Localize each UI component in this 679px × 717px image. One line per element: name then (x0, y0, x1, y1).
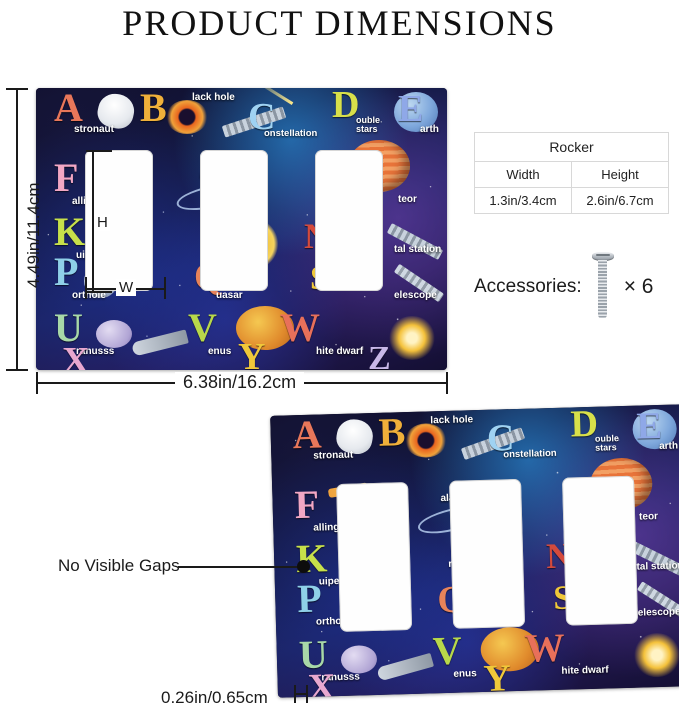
rocker-cutout-2 (200, 150, 268, 291)
height-dim-line (16, 88, 18, 370)
table-title-cell: Rocker (475, 133, 669, 162)
h-dim-bottom-tick (86, 291, 112, 293)
table-value-width: 1.3in/3.4cm (475, 188, 572, 214)
thickness-bracket-right (306, 685, 308, 703)
w-dim-right-tick (164, 277, 166, 299)
screw-shaft (598, 260, 607, 318)
accessories-label: Accessories: (474, 276, 582, 298)
h-dim-label: H (95, 214, 110, 231)
table-row-values: 1.3in/3.4cm 2.6in/6.7cm (475, 188, 669, 214)
no-visible-gaps-label: No Visible Gaps (58, 556, 180, 576)
rocker-cutout-3 (315, 150, 383, 291)
callout-leader-line (178, 566, 300, 568)
wall-plate-angled-view: A stronaut B lack hole C onstellation D … (270, 404, 679, 697)
table-row-headers: Width Height (475, 162, 669, 188)
page-title: PRODUCT DIMENSIONS (0, 2, 679, 44)
screw-slot (596, 254, 610, 256)
infographic-canvas: PRODUCT DIMENSIONS A stronaut B lack hol… (0, 0, 679, 717)
w-dim-label: W (116, 279, 136, 296)
thickness-label: 0.26in/0.65cm (161, 688, 268, 708)
h-dim-line (92, 150, 94, 292)
table-row-title: Rocker (475, 133, 669, 162)
table-value-height: 2.6in/6.7cm (572, 188, 669, 214)
rocker-spec-table: Rocker Width Height 1.3in/3.4cm 2.6in/6.… (474, 132, 669, 214)
height-dim-label: 4.49in/11.4cm (24, 182, 44, 288)
screw-icon (592, 252, 614, 322)
table-header-height: Height (572, 162, 669, 188)
h-dim-top-tick (86, 150, 112, 152)
width-dim-right-cap (446, 372, 448, 394)
height-dim-bottom-cap (6, 369, 28, 371)
rocker-cutout-6 (562, 476, 638, 626)
width-dim-label: 6.38in/16.2cm (175, 372, 304, 393)
table-header-width: Width (475, 162, 572, 188)
accessories-quantity: × 6 (624, 275, 654, 299)
rocker-cutout-4 (336, 482, 412, 632)
rocker-cutout-5 (449, 479, 525, 629)
accessories-section: Accessories: × 6 (474, 252, 653, 322)
word-yellow-2: ellow (506, 691, 531, 698)
callout-target-dot (297, 560, 310, 573)
